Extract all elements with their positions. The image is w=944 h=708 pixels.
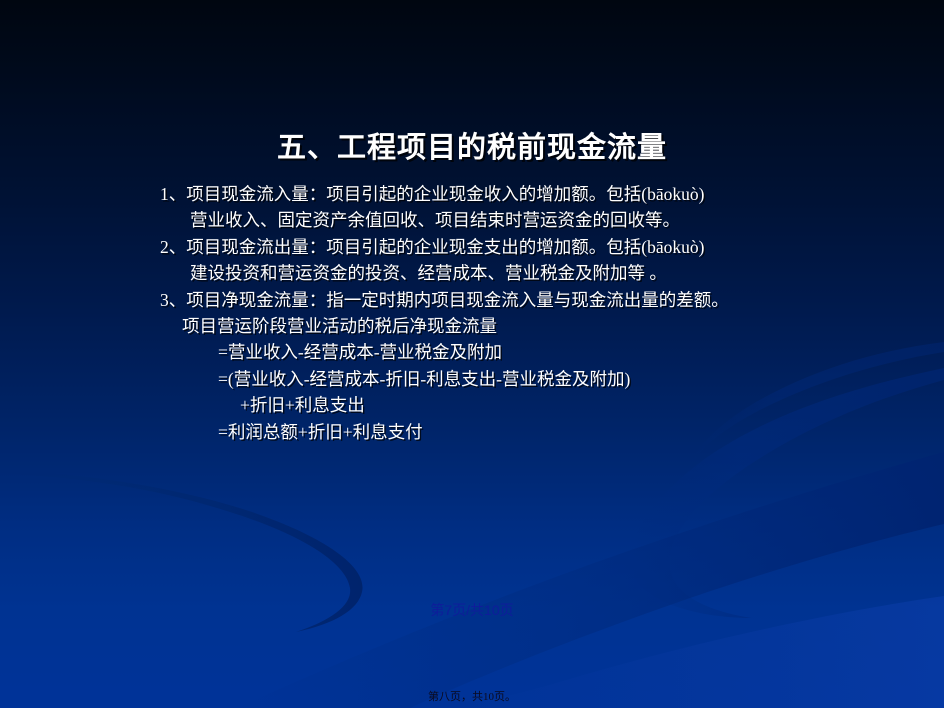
body-line: 1、项目现金流入量：项目引起的企业现金收入的增加额。包括(bāokuò) bbox=[160, 181, 860, 207]
body-line: =营业收入-经营成本-营业税金及附加 bbox=[218, 339, 860, 365]
presentation-slide: 五、工程项目的税前现金流量 1、项目现金流入量：项目引起的企业现金收入的增加额。… bbox=[0, 0, 944, 708]
slide-page-marker: 第7页/共10页 bbox=[0, 600, 944, 620]
body-line: 项目营运阶段营业活动的税后净现金流量 bbox=[182, 313, 860, 339]
body-line: 3、项目净现金流量：指一定时期内项目现金流入量与现金流出量的差额。 bbox=[160, 287, 860, 313]
body-line: =(营业收入-经营成本-折旧-利息支出-营业税金及附加) bbox=[218, 366, 860, 392]
body-line: =利润总额+折旧+利息支付 bbox=[218, 419, 860, 445]
body-line: 营业收入、固定资产余值回收、项目结束时营运资金的回收等。 bbox=[190, 207, 860, 233]
slide-body: 1、项目现金流入量：项目引起的企业现金收入的增加额。包括(bāokuò) 营业收… bbox=[160, 181, 860, 445]
body-line: 建设投资和营运资金的投资、经营成本、营业税金及附加等 。 bbox=[190, 260, 860, 286]
slide-title: 五、工程项目的税前现金流量 bbox=[0, 124, 944, 166]
body-line: 2、项目现金流出量：项目引起的企业现金支出的增加额。包括(bāokuò) bbox=[160, 234, 860, 260]
document-footer: 第八页，共10页。 bbox=[0, 688, 944, 704]
body-line: +折旧+利息支出 bbox=[240, 392, 860, 418]
